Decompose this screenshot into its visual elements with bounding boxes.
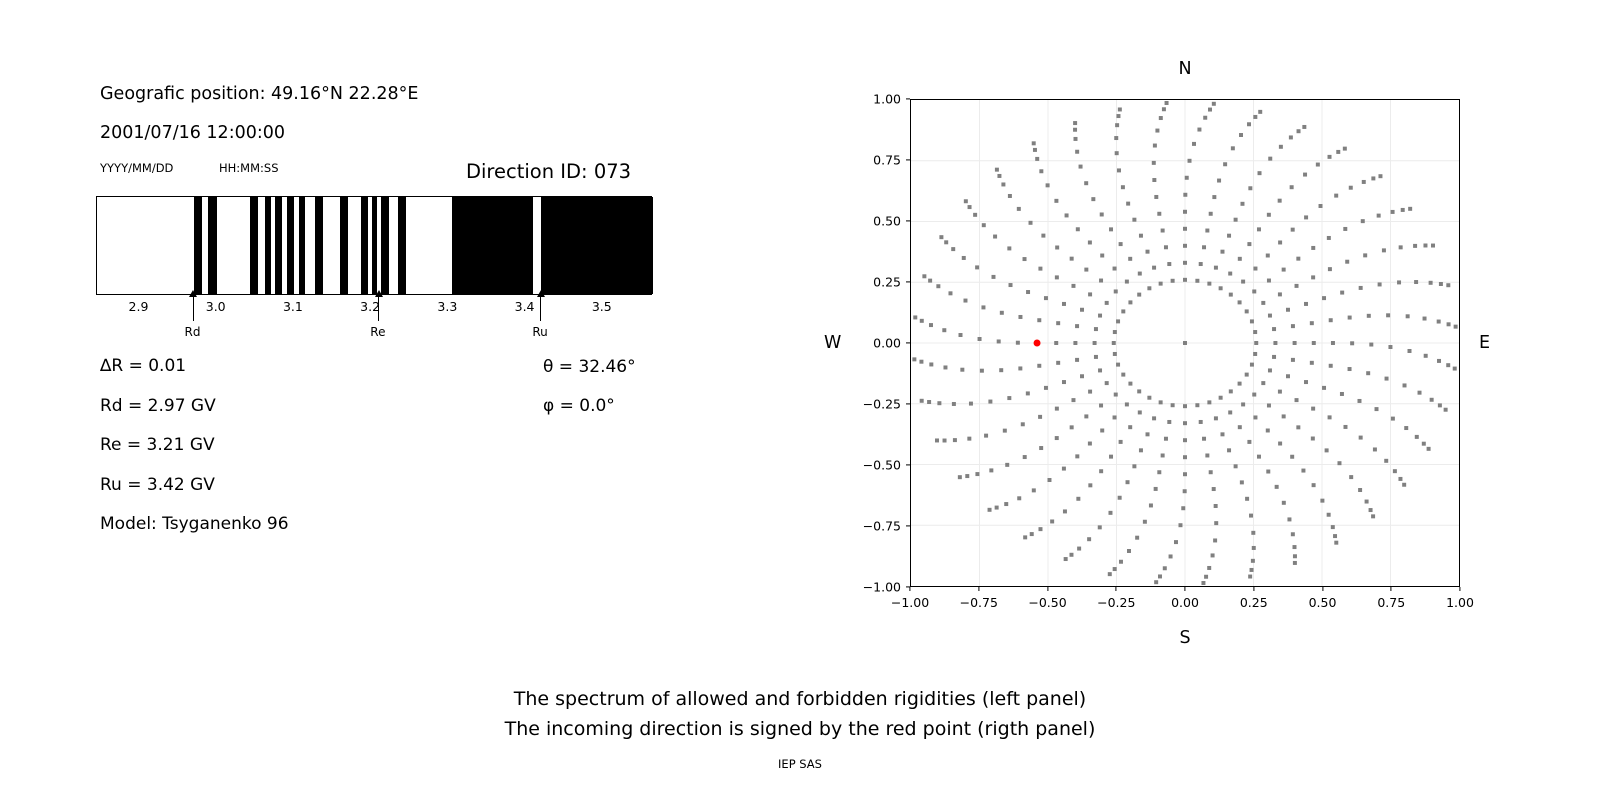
- direction-map-xtick-label: 0.75: [1377, 595, 1405, 610]
- direction-map-xtick-mark: [1322, 587, 1323, 591]
- ru-value: Ru = 3.42 GV: [100, 475, 215, 495]
- direction-map-xtick-mark: [978, 587, 979, 591]
- direction-map-xtick-label: 0.00: [1171, 595, 1199, 610]
- direction-map-svg: [911, 100, 1459, 586]
- forbidden-band: [250, 197, 258, 294]
- direction-map-ytick-label: −0.50: [863, 458, 901, 473]
- direction-map-xtick-mark: [1116, 587, 1117, 591]
- spectrum-bar-track: [96, 196, 652, 295]
- rigidity-marker-arrow-re: [378, 295, 379, 321]
- spectrum-xtick-label: 3.3: [437, 299, 457, 314]
- rigidity-marker-arrow-rd: [193, 295, 194, 321]
- geographic-position-label: Geografic position: 49.16°N 22.28°E: [100, 84, 418, 104]
- compass-south-label: S: [1179, 628, 1190, 648]
- direction-map-ytick-label: −0.75: [863, 519, 901, 534]
- forbidden-band: [315, 197, 323, 294]
- direction-map-xtick-mark: [909, 587, 910, 591]
- forbidden-band: [372, 197, 377, 294]
- forbidden-band: [299, 197, 306, 294]
- direction-map-xtick-label: −0.75: [960, 595, 998, 610]
- direction-map-plot-area: [910, 99, 1460, 587]
- direction-map-ytick-label: 0.00: [873, 336, 901, 351]
- direction-map-xtick-mark: [1184, 587, 1185, 591]
- direction-map-ytick-mark: [906, 342, 910, 343]
- direction-map-ytick-mark: [906, 220, 910, 221]
- direction-map-ytick-label: −0.25: [863, 397, 901, 412]
- direction-map-ytick-label: 0.75: [873, 153, 901, 168]
- direction-map-ytick-label: 0.50: [873, 214, 901, 229]
- direction-map-xtick-mark: [1047, 587, 1048, 591]
- spectrum-xtick-label: 3.1: [283, 299, 303, 314]
- direction-map-ytick-mark: [906, 98, 910, 99]
- forbidden-band: [208, 197, 216, 294]
- forbidden-band: [452, 197, 532, 294]
- direction-id-label: Direction ID: 073: [466, 160, 631, 183]
- organization-footer: IEP SAS: [0, 757, 1600, 771]
- forbidden-band: [361, 197, 368, 294]
- caption-line-2: The incoming direction is signed by the …: [0, 718, 1600, 740]
- forbidden-band: [275, 197, 281, 294]
- date-format-hint: YYYY/MM/DD: [100, 161, 173, 175]
- direction-map-xtick-label: −1.00: [891, 595, 929, 610]
- rd-value: Rd = 2.97 GV: [100, 396, 216, 416]
- direction-map-ytick-mark: [906, 403, 910, 404]
- forbidden-band: [398, 197, 406, 294]
- model-value: Model: Tsyganenko 96: [100, 514, 289, 534]
- direction-map-panel: N S E W −1.00−0.75−0.50−0.250.000.250.50…: [820, 40, 1520, 660]
- time-format-hint: HH:MM:SS: [219, 161, 279, 175]
- rigidity-spectrum-panel: Geografic position: 49.16°N 22.28°E 2001…: [0, 0, 760, 660]
- delta-r-value: ∆R = 0.01: [100, 356, 186, 376]
- forbidden-band: [265, 197, 271, 294]
- rigidity-marker-label-rd: Rd: [185, 325, 201, 339]
- direction-map-ytick-mark: [906, 159, 910, 160]
- rigidity-marker-label-ru: Ru: [532, 325, 547, 339]
- direction-map-ytick-mark: [906, 464, 910, 465]
- direction-map-xtick-label: 0.50: [1309, 595, 1337, 610]
- direction-map-xtick-label: −0.50: [1028, 595, 1066, 610]
- phi-value: φ = 0.0°: [543, 396, 615, 416]
- rigidity-marker-arrow-ru: [540, 295, 541, 321]
- rigidity-spectrum-chart: [96, 196, 652, 295]
- direction-map-xtick-label: −0.25: [1097, 595, 1135, 610]
- spectrum-xtick-label: 2.9: [129, 299, 149, 314]
- direction-map-ytick-label: 1.00: [873, 92, 901, 107]
- selected-direction-point: [1034, 340, 1041, 347]
- direction-map-xtick-mark: [1253, 587, 1254, 591]
- caption-line-1: The spectrum of allowed and forbidden ri…: [0, 688, 1600, 710]
- re-value: Re = 3.21 GV: [100, 435, 215, 455]
- direction-map-xtick-mark: [1391, 587, 1392, 591]
- direction-map-ytick-mark: [906, 281, 910, 282]
- spectrum-xtick-label: 3.5: [592, 299, 612, 314]
- direction-map-xtick-label: 0.25: [1240, 595, 1268, 610]
- direction-map-xtick-label: 1.00: [1446, 595, 1474, 610]
- direction-map-xtick-mark: [1459, 587, 1460, 591]
- rigidity-marker-label-re: Re: [370, 325, 385, 339]
- forbidden-band: [194, 197, 203, 294]
- datetime-label: 2001/07/16 12:00:00: [100, 123, 285, 143]
- compass-east-label: E: [1479, 333, 1490, 353]
- forbidden-band: [381, 197, 389, 294]
- theta-value: θ = 32.46°: [543, 357, 636, 377]
- direction-map-ytick-label: −1.00: [863, 580, 901, 595]
- forbidden-band: [541, 197, 653, 294]
- forbidden-band: [340, 197, 348, 294]
- direction-map-ytick-mark: [906, 525, 910, 526]
- forbidden-band: [287, 197, 294, 294]
- spectrum-x-axis: 2.93.03.13.23.33.43.5RdReRu: [96, 295, 652, 296]
- compass-north-label: N: [1178, 59, 1191, 79]
- compass-west-label: W: [824, 333, 841, 353]
- direction-map-ytick-label: 0.25: [873, 275, 901, 290]
- spectrum-xtick-label: 3.0: [206, 299, 226, 314]
- spectrum-xtick-label: 3.4: [515, 299, 535, 314]
